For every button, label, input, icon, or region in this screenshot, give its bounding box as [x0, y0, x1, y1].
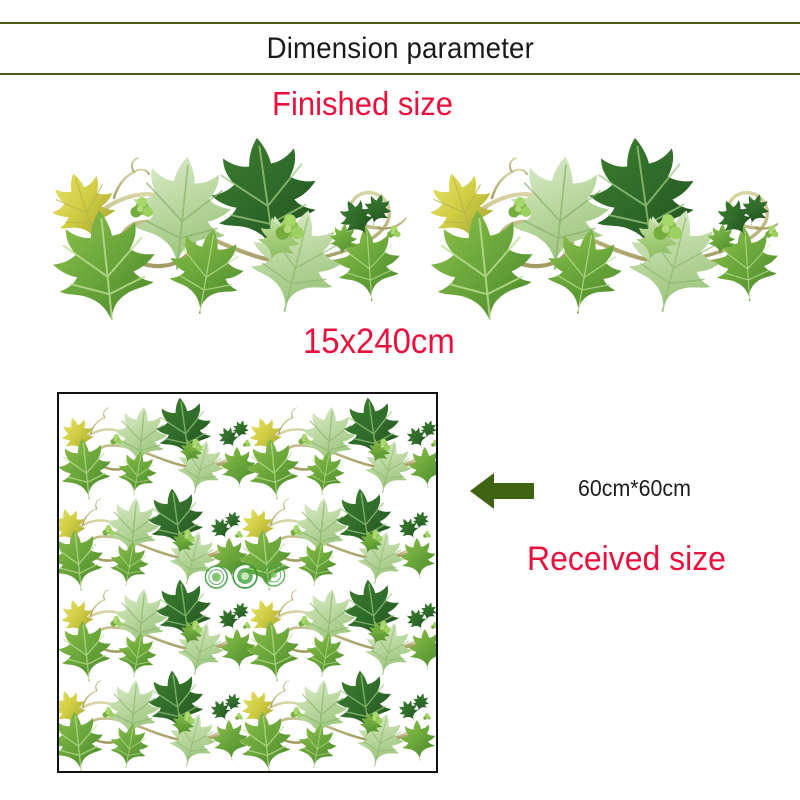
header-band: Dimension parameter [0, 22, 800, 75]
page-title: Dimension parameter [266, 32, 533, 66]
received-size-sheet [57, 392, 438, 773]
eco-stamps [205, 564, 284, 588]
vine-repeat-unit-1 [43, 136, 406, 320]
leaf-cluster-back [126, 136, 352, 320]
maple-leaf-vine-svg [22, 136, 778, 320]
finished-size-value: 15x240cm [303, 322, 455, 362]
finished-size-artwork [22, 136, 778, 320]
finished-size-label: Finished size [272, 85, 453, 123]
eco-stamp-1 [205, 566, 227, 588]
arrow-left-icon [468, 470, 536, 512]
vine-repeat-unit-2 [421, 136, 778, 320]
eco-stamp-2 [233, 564, 257, 588]
sheet-row-4 [59, 667, 436, 771]
received-dimensions-label: 60cm*60cm [578, 475, 691, 502]
sheet-row-3 [59, 576, 436, 684]
sheet-row-1 [59, 394, 436, 502]
maple-leaf-sticker-sheet-svg [59, 394, 436, 771]
received-size-label: Received size [527, 540, 726, 579]
